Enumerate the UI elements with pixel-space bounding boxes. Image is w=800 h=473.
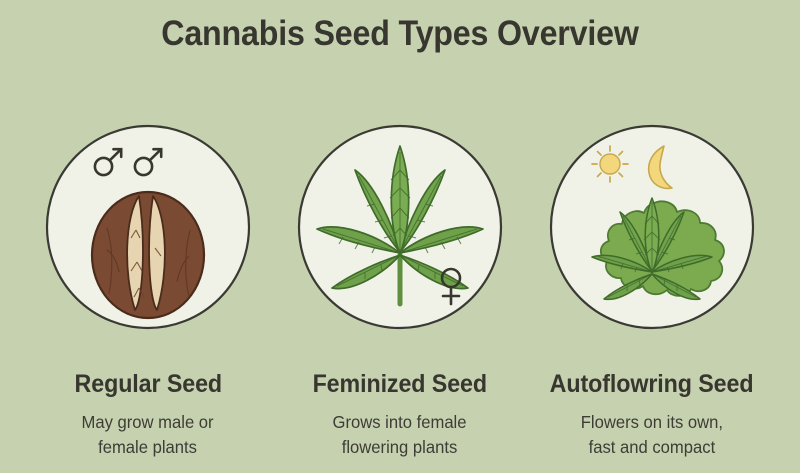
card-feminized-seed: Feminized Seed Grows into female floweri… (274, 122, 526, 460)
card-description-line: Flowers on its own, (581, 410, 723, 435)
sun-icon (592, 146, 628, 182)
cannabis-seed-icon (92, 192, 204, 318)
card-autoflowering-seed: Autoflowring Seed Flowers on its own, fa… (526, 122, 778, 460)
card-description-line: May grow male or (82, 410, 214, 435)
card-description-line: Grows into female (333, 410, 467, 435)
illustration-autoflowering-seed (547, 122, 757, 334)
page-title: Cannabis Seed Types Overview (32, 14, 768, 54)
card-description-line: fast and compact (581, 435, 723, 460)
illustration-regular-seed (43, 122, 253, 334)
card-heading: Autoflowring Seed (550, 370, 754, 399)
card-description: Grows into female flowering plants (333, 410, 467, 460)
card-heading: Regular Seed (74, 370, 221, 399)
card-description-line: female plants (82, 435, 214, 460)
illustration-feminized-seed (295, 122, 505, 334)
card-description-line: flowering plants (333, 435, 467, 460)
card-description: May grow male or female plants (82, 410, 214, 460)
feminized-seed-svg (295, 122, 505, 334)
card-heading: Feminized Seed (313, 370, 487, 399)
card-description: Flowers on its own, fast and compact (581, 410, 723, 460)
regular-seed-svg (43, 122, 253, 334)
autoflowering-seed-svg (547, 122, 757, 334)
infographic-canvas: Cannabis Seed Types Overview (0, 0, 800, 473)
cards-row: Regular Seed May grow male or female pla… (0, 122, 800, 460)
card-regular-seed: Regular Seed May grow male or female pla… (22, 122, 274, 460)
